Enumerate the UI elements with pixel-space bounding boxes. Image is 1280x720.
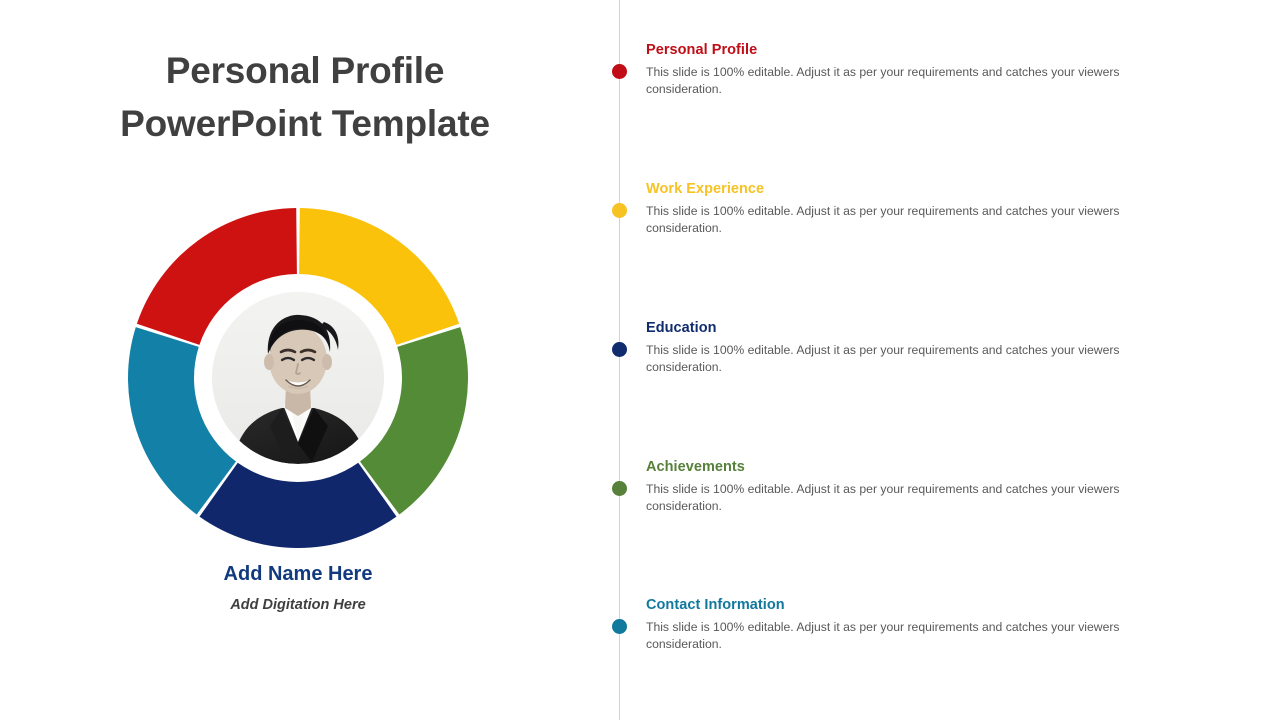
- timeline-item-description: This slide is 100% editable. Adjust it a…: [646, 619, 1124, 653]
- timeline-item-body: Contact InformationThis slide is 100% ed…: [646, 597, 1132, 653]
- page-title: Personal Profile PowerPoint Template: [70, 44, 540, 150]
- timeline-item-work-experience[interactable]: Work ExperienceThis slide is 100% editab…: [612, 181, 1132, 271]
- page-title-line-1: Personal Profile: [70, 44, 540, 97]
- timeline-item-body: EducationThis slide is 100% editable. Ad…: [646, 320, 1132, 376]
- timeline-item-achievements[interactable]: AchievementsThis slide is 100% editable.…: [612, 459, 1132, 549]
- timeline-item-heading: Education: [646, 320, 1132, 337]
- timeline-item-description: This slide is 100% editable. Adjust it a…: [646, 481, 1124, 515]
- timeline-item-description: This slide is 100% editable. Adjust it a…: [646, 64, 1124, 98]
- profile-donut-chart: [128, 208, 468, 548]
- profile-name: Add Name Here: [128, 563, 468, 586]
- timeline-item-heading: Achievements: [646, 459, 1132, 476]
- timeline-item-education[interactable]: EducationThis slide is 100% editable. Ad…: [612, 320, 1132, 410]
- timeline-item-body: Work ExperienceThis slide is 100% editab…: [646, 181, 1132, 237]
- timeline-bullet-icon-achievements: [612, 481, 627, 496]
- timeline-item-heading: Personal Profile: [646, 42, 1132, 59]
- timeline-item-personal-profile[interactable]: Personal ProfileThis slide is 100% edita…: [612, 42, 1132, 132]
- avatar-ring: [200, 280, 396, 476]
- profile-role: Add Digitation Here: [128, 597, 468, 613]
- page-title-line-2: PowerPoint Template: [70, 97, 540, 150]
- timeline-item-heading: Work Experience: [646, 181, 1132, 198]
- timeline-item-description: This slide is 100% editable. Adjust it a…: [646, 342, 1124, 376]
- timeline-item-body: AchievementsThis slide is 100% editable.…: [646, 459, 1132, 515]
- timeline-item-heading: Contact Information: [646, 597, 1132, 614]
- timeline-bullet-icon-personal-profile: [612, 64, 627, 79]
- slide-canvas: Personal Profile PowerPoint Template: [0, 0, 1280, 720]
- avatar: [212, 292, 384, 464]
- timeline-bullet-icon-work-experience: [612, 203, 627, 218]
- left-panel: Personal Profile PowerPoint Template: [0, 0, 600, 720]
- timeline-bullet-icon-contact-information: [612, 619, 627, 634]
- timeline-item-contact-information[interactable]: Contact InformationThis slide is 100% ed…: [612, 597, 1132, 687]
- timeline-item-body: Personal ProfileThis slide is 100% edita…: [646, 42, 1132, 98]
- profile-photo-illustration: [212, 292, 384, 464]
- timeline-item-description: This slide is 100% editable. Adjust it a…: [646, 203, 1124, 237]
- timeline-bullet-icon-education: [612, 342, 627, 357]
